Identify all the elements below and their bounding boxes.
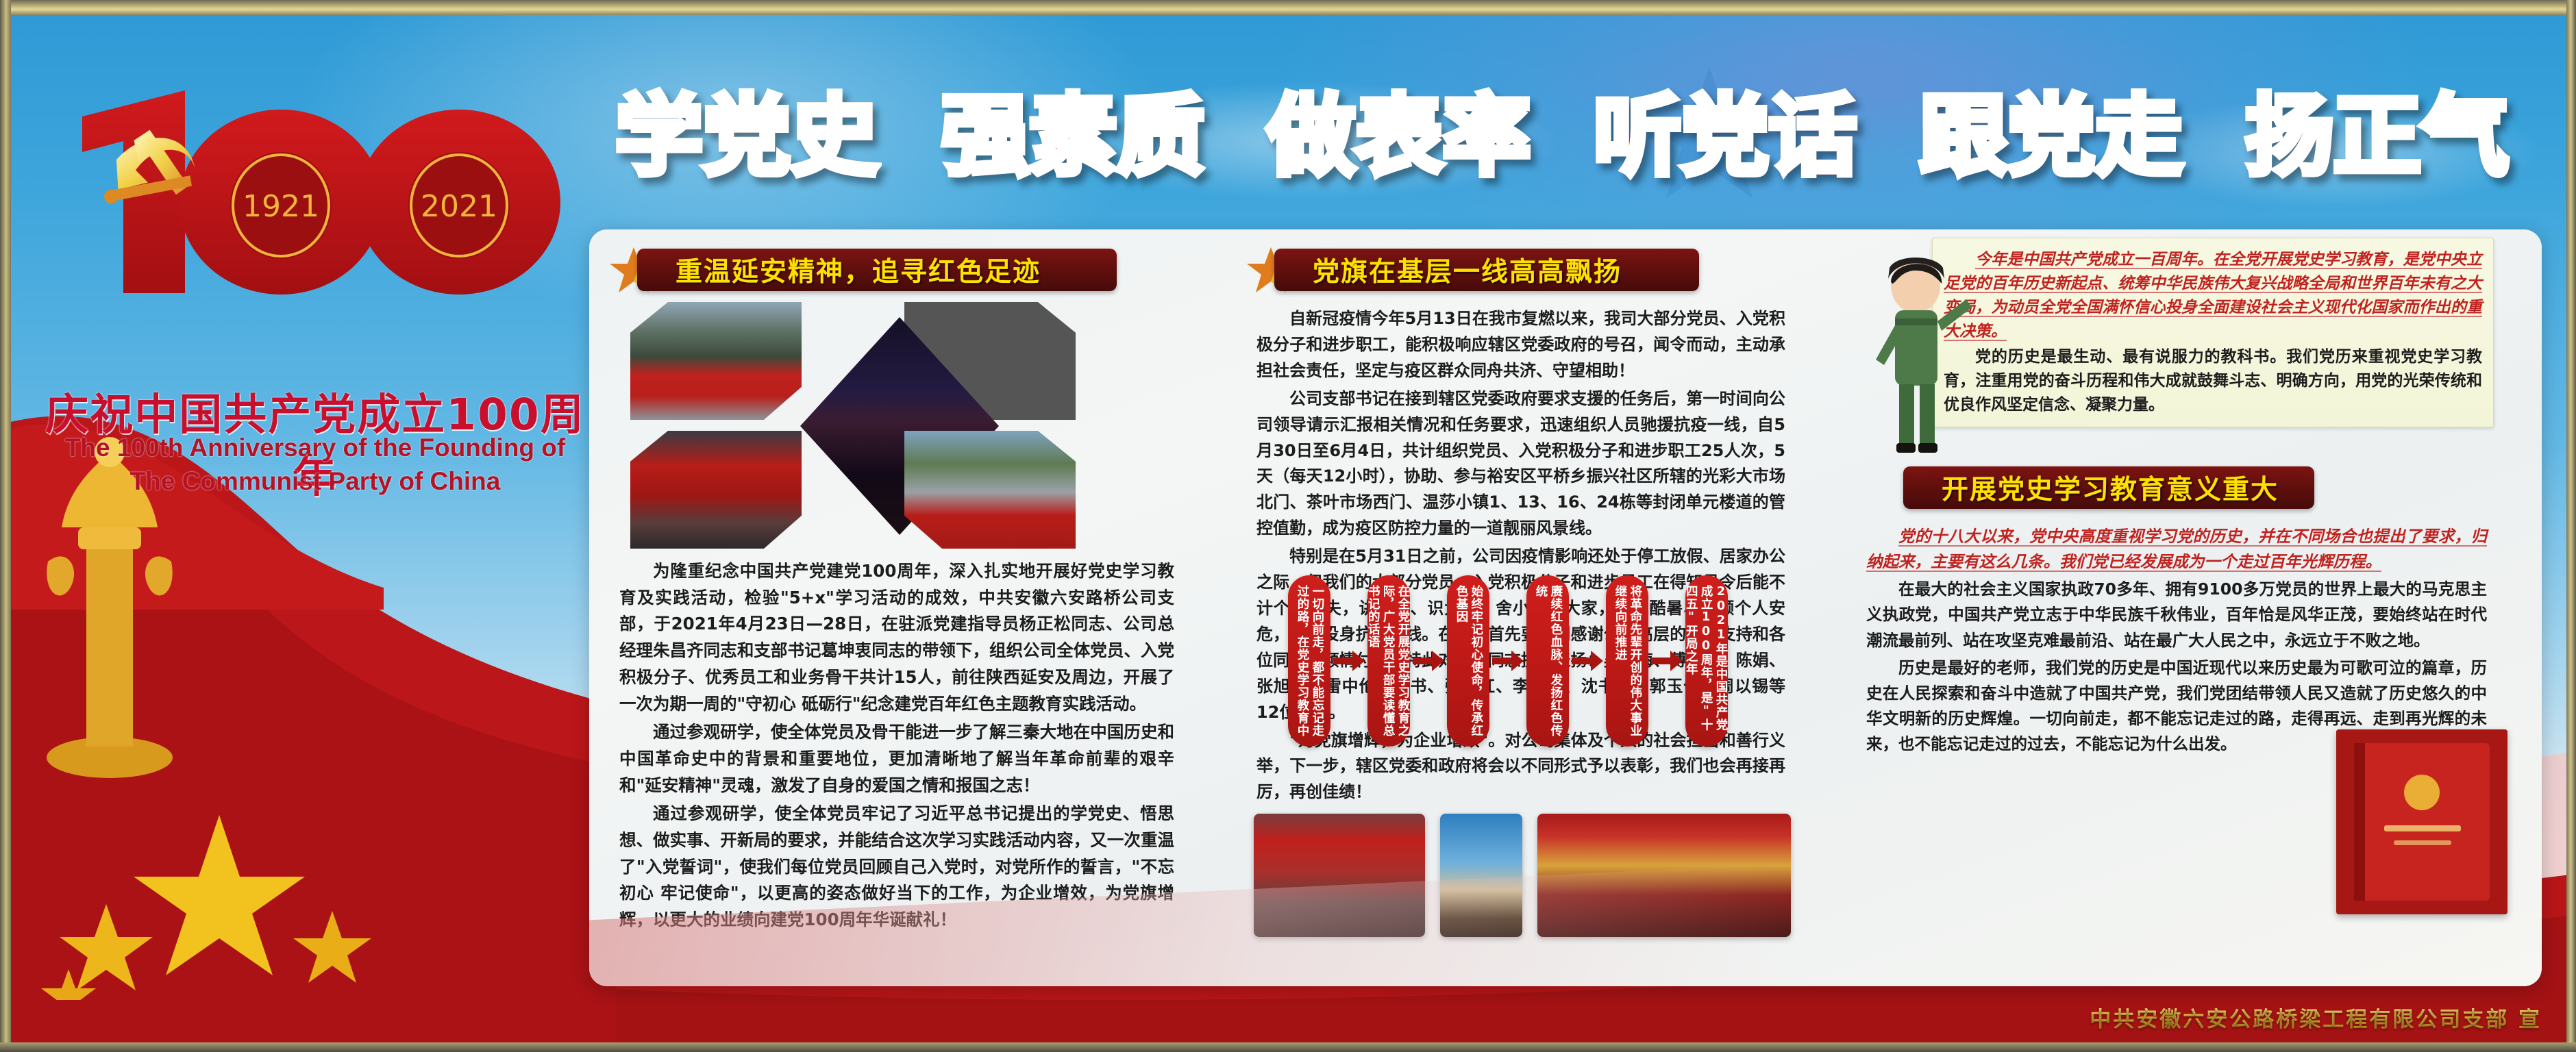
section-header-yanan: 重温延安精神，追寻红色足迹 bbox=[610, 249, 1185, 291]
logo-year-end: 2021 bbox=[421, 189, 497, 224]
note-card-dangshi: 今年是中国共产党成立一百周年。在全党开展党史学习教育，是党中央立足党的百年历史新… bbox=[1932, 238, 2494, 427]
column-yanan: 重温延安精神，追寻红色足迹 为隆重纪念中国共产党建党100周年，深入扎实地开展好… bbox=[610, 229, 1185, 936]
section-header-dangshi: 开展党史学习教育意义重大 bbox=[1903, 466, 2528, 509]
note-paragraph: 党的历史是最生动、最有说服力的教科书。我们党历来重视党史学习教育，注重用党的奋斗… bbox=[1944, 345, 2482, 417]
paragraph-highlight: 党的十八大以来，党中央高度重视学习党的历史，并在不同场合也提出了要求，归纳起来，… bbox=[1866, 524, 2487, 575]
flow-step-label: 始终牢记初心使命，传承红色基因 bbox=[1453, 585, 1483, 737]
note-paragraph-highlight: 今年是中国共产党成立一百周年。在全党开展党史学习教育，是党中央立足党的百年历史新… bbox=[1944, 248, 2482, 344]
ribbon-dangshi: 开展党史学习教育意义重大 bbox=[1903, 466, 2314, 509]
section-title-yanan: 重温延安精神，追寻红色足迹 bbox=[676, 251, 1041, 289]
ribbon-dangqi: 党旗在基层一线高高飘扬 bbox=[1274, 249, 1699, 291]
frame-bottom-edge bbox=[0, 1042, 2576, 1052]
headline-word-2: 强素质 bbox=[941, 93, 1204, 181]
photo-collage-yanan bbox=[617, 302, 1178, 549]
photo-party-history-book bbox=[2336, 729, 2507, 914]
frame-left-edge bbox=[0, 0, 11, 1052]
flow-arrow-icon bbox=[1648, 649, 1685, 673]
flow-arrow-icon bbox=[1330, 649, 1367, 673]
photo-strip-dangqi bbox=[1254, 814, 1795, 937]
flow-step-1: 一切向前走，都不能忘记走过的路，在党史学习教育中 bbox=[1288, 575, 1330, 747]
flowchart-dangshi-steps: 一切向前走，都不能忘记走过的路，在党史学习教育中 在全党开展党史学习教育之际，广… bbox=[1288, 575, 1925, 747]
body-dangshi: 党的十八大以来，党中央高度重视学习党的历史，并在不同场合也提出了要求，归纳起来，… bbox=[1866, 524, 2487, 757]
paragraph: 在最大的社会主义国家执政70多年、拥有9100多万党员的世界上最大的马克思主义执… bbox=[1866, 577, 2487, 653]
book-cover-art bbox=[2336, 729, 2507, 914]
section-header-dangqi: 党旗在基层一线高高飘扬 bbox=[1247, 249, 1795, 291]
headline-word-3: 做表率 bbox=[1267, 93, 1531, 181]
paragraph: 为隆重纪念中国共产党建党100周年，深入扎实地开展好党史学习教育及实践活动，检验… bbox=[619, 558, 1174, 717]
page-title-en: The 100th Anniversary of the Founding of… bbox=[41, 431, 589, 499]
flow-arrow-icon bbox=[1489, 649, 1526, 673]
frame-top-edge bbox=[0, 0, 2576, 15]
logo-year-start: 1921 bbox=[243, 189, 319, 224]
flow-step-label: 将革命先辈开创的伟大事业继续向前推进 bbox=[1612, 585, 1642, 737]
flow-step-label: 一切向前走，都不能忘记走过的路，在党史学习教育中 bbox=[1294, 585, 1324, 737]
headline-word-4: 听党话 bbox=[1594, 93, 1857, 181]
ribbon-yanan: 重温延安精神，追寻红色足迹 bbox=[637, 249, 1117, 291]
paragraph: 自新冠疫情今年5月13日在我市复燃以来，我司大部分党员、入党积极分子和进步职工，… bbox=[1256, 306, 1785, 384]
flow-step-5: 将革命先辈开创的伟大事业继续向前推进 bbox=[1606, 575, 1648, 747]
flow-arrow-icon bbox=[1569, 649, 1606, 673]
photo-volunteer-group bbox=[1254, 814, 1425, 937]
flow-step-4: 赓续红色血脉、发扬红色传统 bbox=[1526, 575, 1569, 747]
footer-credit: 中共安徽六安公路桥梁工程有限公司支部 宣 bbox=[2090, 1002, 2542, 1033]
flow-step-3: 始终牢记初心使命，传承红色基因 bbox=[1447, 575, 1489, 747]
headline-word-1: 学党史 bbox=[615, 93, 878, 181]
photo-yanan-memorial-tower bbox=[904, 431, 1076, 549]
photo-i-love-luan-landmark bbox=[1440, 814, 1522, 937]
paragraph: 通过参观研学，使全体党员牢记了习近平总书记提出的学党史、悟思想、做实事、开新局的… bbox=[619, 801, 1174, 934]
page-title-en-line2: The Communist Party of China bbox=[41, 465, 589, 499]
headline-banner: 学党史 强素质 做表率 听党话 跟党走 扬正气 bbox=[603, 72, 2521, 202]
page-title-en-line1: The 100th Anniversary of the Founding of bbox=[41, 431, 589, 465]
photo-yanan-memorial-hall bbox=[630, 302, 802, 420]
column-dangshi: 今年是中国共产党成立一百周年。在全党开展党史学习教育，是党中央立足党的百年历史新… bbox=[1857, 229, 2528, 759]
photo-party-oath-ceremony bbox=[630, 431, 802, 549]
photo-centenary-award-ceremony bbox=[1537, 814, 1791, 937]
flow-step-2: 在全党开展党史学习教育之际，广大党员干部要读懂总书记的话语 bbox=[1367, 575, 1410, 747]
flow-step-label: 2021年是中国共产党成立100周年，是"十四五"开局之年 bbox=[1685, 585, 1728, 737]
headline-word-5: 跟党走 bbox=[1920, 93, 2183, 181]
paragraph: 公司支部书记在接到辖区党委政府要求支援的任务后，第一时间向公司领导请示汇报相关情… bbox=[1256, 386, 1785, 542]
headline-word-6: 扬正气 bbox=[2246, 93, 2509, 181]
flow-arrow-icon bbox=[1410, 649, 1447, 673]
frame-right-edge bbox=[2566, 0, 2576, 1052]
body-yanan: 为隆重纪念中国共产党建党100周年，深入扎实地开展好党史学习教育及实践活动，检验… bbox=[619, 558, 1174, 934]
gold-stars-decoration bbox=[41, 774, 397, 1000]
party-bulletin-board: 1921 2021 庆祝中国共产党成立100周年 The 100th Anniv… bbox=[0, 0, 2576, 1052]
illustration-girl-soldier bbox=[1857, 250, 1980, 455]
section-title-dangshi: 开展党史学习教育意义重大 bbox=[1942, 468, 2279, 507]
flow-step-label: 在全党开展党史学习教育之际，广大党员干部要读懂总书记的话语 bbox=[1367, 585, 1410, 737]
flow-step-label: 赓续红色血脉、发扬红色传统 bbox=[1533, 585, 1563, 737]
section-title-dangqi: 党旗在基层一线高高飘扬 bbox=[1313, 251, 1622, 289]
flow-step-6: 2021年是中国共产党成立100周年，是"十四五"开局之年 bbox=[1685, 575, 1728, 747]
paragraph: 通过参观研学，使全体党员及骨干能进一步了解三秦大地在中国历史和中国革命史中的背景… bbox=[619, 719, 1174, 799]
centenary-100-logo: 1921 2021 bbox=[41, 75, 603, 295]
